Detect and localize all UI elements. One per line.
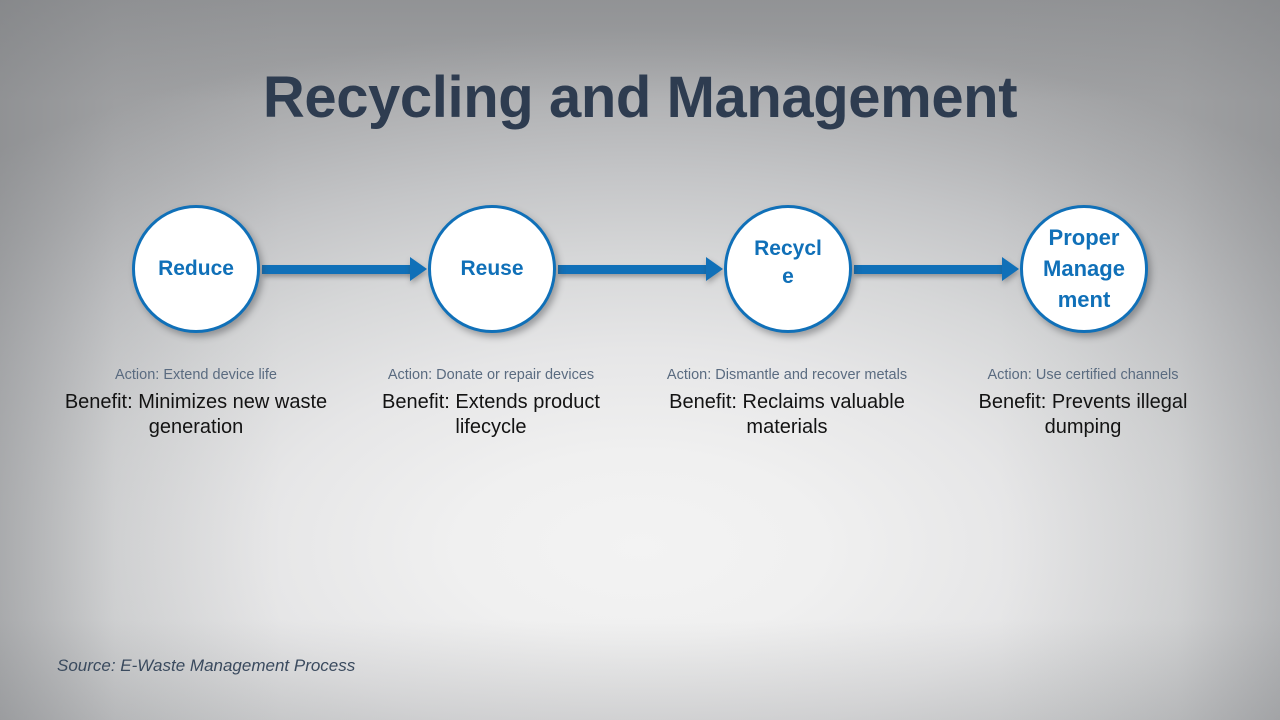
action-text: Action: Dismantle and recover metals: [657, 366, 917, 386]
flow-node-label: Reuse: [454, 255, 530, 283]
flow-node-label: Reduce: [158, 255, 234, 283]
arrow-head-icon: [410, 257, 427, 281]
flow-caption-reduce: Action: Extend device life Benefit: Mini…: [56, 366, 336, 440]
arrow-head-icon: [706, 257, 723, 281]
flow-node-label: Proper Management: [1040, 222, 1128, 316]
flow-caption-proper-management: Action: Use certified channels Benefit: …: [953, 366, 1213, 440]
flow-node-reduce[interactable]: Reduce: [132, 205, 260, 333]
arrow-reduce-to-reuse: [262, 255, 427, 283]
action-text: Action: Donate or repair devices: [381, 366, 601, 386]
flow-caption-recycle: Action: Dismantle and recover metals Ben…: [657, 366, 917, 440]
benefit-text: Benefit: Minimizes new waste generation: [56, 390, 336, 441]
flow-node-reuse[interactable]: Reuse: [428, 205, 556, 333]
action-text: Action: Use certified channels: [953, 366, 1213, 386]
arrow-head-icon: [1002, 257, 1019, 281]
arrow-shaft: [854, 265, 1004, 274]
benefit-text: Benefit: Extends product lifecycle: [381, 390, 601, 441]
process-flow-diagram: Reduce Reuse Recycle Proper Management A…: [0, 0, 1280, 720]
flow-node-proper-management[interactable]: Proper Management: [1020, 205, 1148, 333]
flow-node-label: Recycle: [750, 235, 826, 290]
slide-canvas: Recycling and Management Reduce Reuse Re…: [0, 0, 1280, 720]
arrow-shaft: [558, 265, 708, 274]
flow-caption-reuse: Action: Donate or repair devices Benefit…: [381, 366, 601, 440]
source-caption: Source: E-Waste Management Process: [57, 656, 355, 676]
benefit-text: Benefit: Prevents illegal dumping: [953, 390, 1213, 441]
flow-node-recycle[interactable]: Recycle: [724, 205, 852, 333]
arrow-shaft: [262, 265, 412, 274]
arrow-recycle-to-proper-management: [854, 255, 1019, 283]
action-text: Action: Extend device life: [56, 366, 336, 386]
benefit-text: Benefit: Reclaims valuable materials: [657, 390, 917, 441]
arrow-reuse-to-recycle: [558, 255, 723, 283]
